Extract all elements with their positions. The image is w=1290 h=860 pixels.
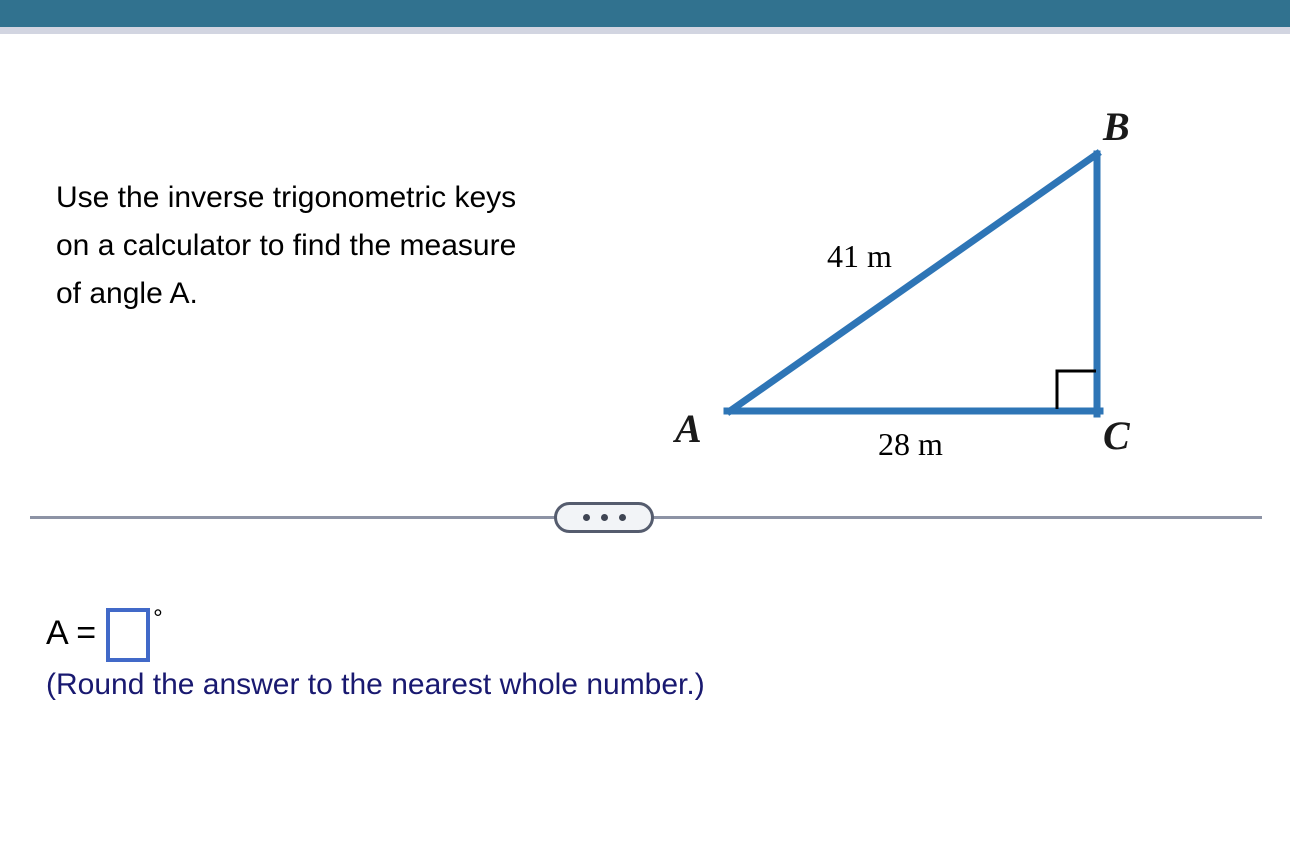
more-options-button[interactable] [554, 502, 654, 533]
section-divider [0, 500, 1290, 536]
answer-hint-text: (Round the answer to the nearest whole n… [46, 668, 705, 702]
vertex-label-c: C [1103, 413, 1131, 458]
answer-label: A = [46, 600, 96, 666]
answer-input[interactable] [106, 608, 150, 662]
question-text: Use the inverse trigonometric keys on a … [56, 174, 676, 318]
triangle-figure: A B C 41 m 28 m [660, 54, 1220, 474]
side-label-base: 28 m [878, 426, 943, 462]
vertex-label-a: A [672, 406, 702, 451]
side-label-hypotenuse: 41 m [827, 238, 892, 274]
ellipsis-dot-icon [619, 514, 626, 521]
top-app-bar-underline [0, 27, 1290, 34]
ellipsis-dot-icon [583, 514, 590, 521]
ellipsis-dot-icon [601, 514, 608, 521]
top-app-bar [0, 0, 1290, 27]
degree-symbol: ° [153, 604, 163, 634]
right-angle-marker [1057, 371, 1096, 409]
question-area: Use the inverse trigonometric keys on a … [0, 34, 1290, 484]
triangle-side-hypotenuse [730, 154, 1097, 411]
answer-row: A = ° [46, 600, 163, 666]
vertex-label-b: B [1102, 104, 1130, 149]
answer-area: A = ° (Round the answer to the nearest w… [0, 560, 1290, 760]
